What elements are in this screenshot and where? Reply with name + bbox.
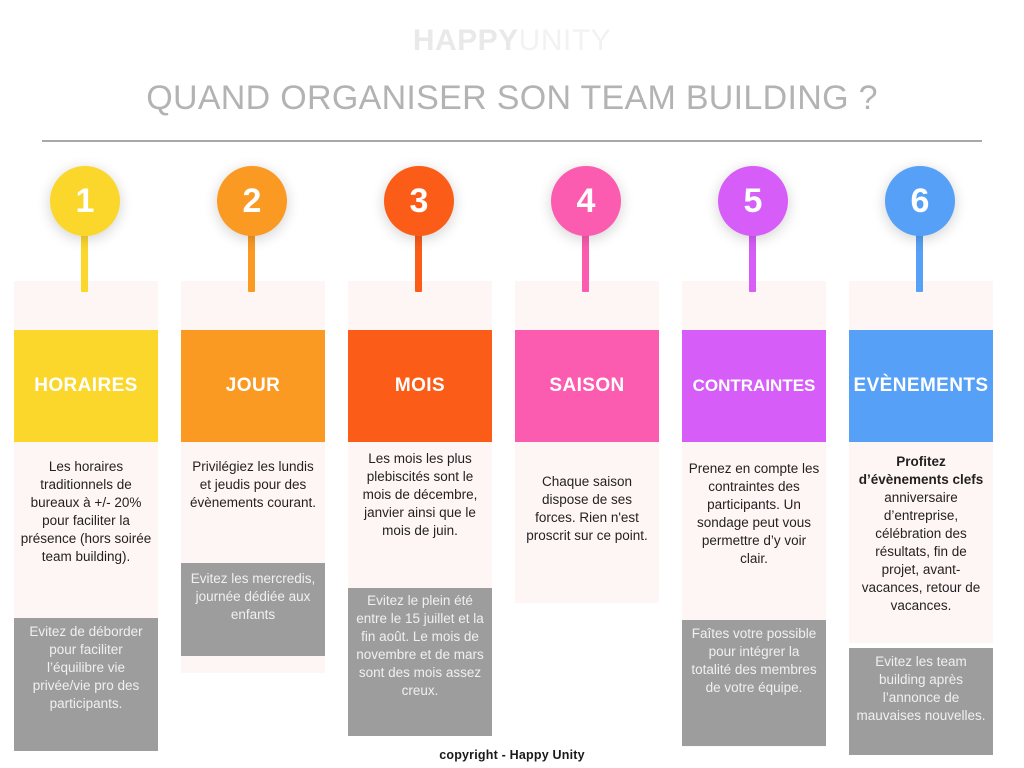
category-label-block: MOIS (348, 330, 492, 442)
category-label-text: MOIS (395, 375, 445, 397)
caveat-text: Evitez de déborder pour faciliter l’équi… (20, 623, 152, 713)
step-number-badge: 2 (217, 166, 287, 236)
column-body-emphasis: Profitez d’évènements clefs (859, 454, 984, 487)
category-label-text: HORAIRES (34, 375, 138, 397)
column-2: 2JOURPrivilégiez les lundis et jeudis po… (181, 0, 325, 768)
column-body-rest: anniversaire d’entreprise, célébration d… (862, 490, 981, 613)
pin-stem (916, 232, 923, 292)
step-number-badge: 4 (551, 166, 621, 236)
infographic-root: HAPPYUNITY QUAND ORGANISER SON TEAM BUIL… (0, 0, 1024, 768)
caveat-text: Faîtes votre possible pour intégrer la t… (688, 625, 820, 697)
step-number-badge: 1 (50, 166, 120, 236)
pin-stem (248, 232, 255, 292)
category-label-block: EVÈNEMENTS (849, 330, 993, 442)
caveat-text: Evitez les mercredis, journée dédiée aux… (187, 570, 319, 624)
column-body-text: Prenez en compte les contraintes des par… (688, 460, 820, 568)
step-number-badge: 5 (718, 166, 788, 236)
column-body-text: Profitez d’évènements clefs anniversaire… (855, 453, 987, 615)
column-body-text: Privilégiez les lundis et jeudis pour de… (187, 458, 319, 512)
caveat-text: Evitez le plein été entre le 15 juillet … (354, 592, 486, 700)
column-body-text: Les horaires traditionnels de bureaux à … (20, 458, 152, 566)
step-number-text: 6 (911, 184, 930, 218)
category-label-block: CONTRAINTES (682, 330, 826, 442)
column-4: 4SAISONChaque saison dispose de ses forc… (515, 0, 659, 768)
step-number-text: 1 (76, 184, 95, 218)
category-label-block: HORAIRES (14, 330, 158, 442)
column-6: 6EVÈNEMENTSProfitez d’évènements clefs a… (849, 0, 993, 768)
caveat-text: Evitez les team building après l’annonce… (855, 653, 987, 725)
category-label-text: JOUR (226, 375, 280, 397)
step-number-badge: 6 (885, 166, 955, 236)
column-5: 5CONTRAINTESPrenez en compte les contrai… (682, 0, 826, 768)
category-label-text: CONTRAINTES (693, 376, 816, 396)
footer-copyright: copyright - Happy Unity (0, 748, 1024, 762)
pin-stem (415, 232, 422, 292)
pin-stem (582, 232, 589, 292)
category-label-text: EVÈNEMENTS (854, 375, 989, 397)
step-number-text: 3 (410, 184, 429, 218)
category-label-block: SAISON (515, 330, 659, 442)
step-number-badge: 3 (384, 166, 454, 236)
column-1: 1HORAIRESLes horaires traditionnels de b… (14, 0, 158, 768)
column-3: 3MOISLes mois les plus plebiscités sont … (348, 0, 492, 768)
step-number-text: 4 (577, 184, 596, 218)
category-label-text: SAISON (549, 375, 624, 397)
column-body-text: Les mois les plus plebiscités sont le mo… (354, 450, 486, 540)
column-body-text: Chaque saison dispose de ses forces. Rie… (521, 473, 653, 545)
step-number-text: 2 (243, 184, 262, 218)
step-number-text: 5 (744, 184, 763, 218)
pin-stem (81, 232, 88, 292)
pin-stem (749, 232, 756, 292)
category-label-block: JOUR (181, 330, 325, 442)
